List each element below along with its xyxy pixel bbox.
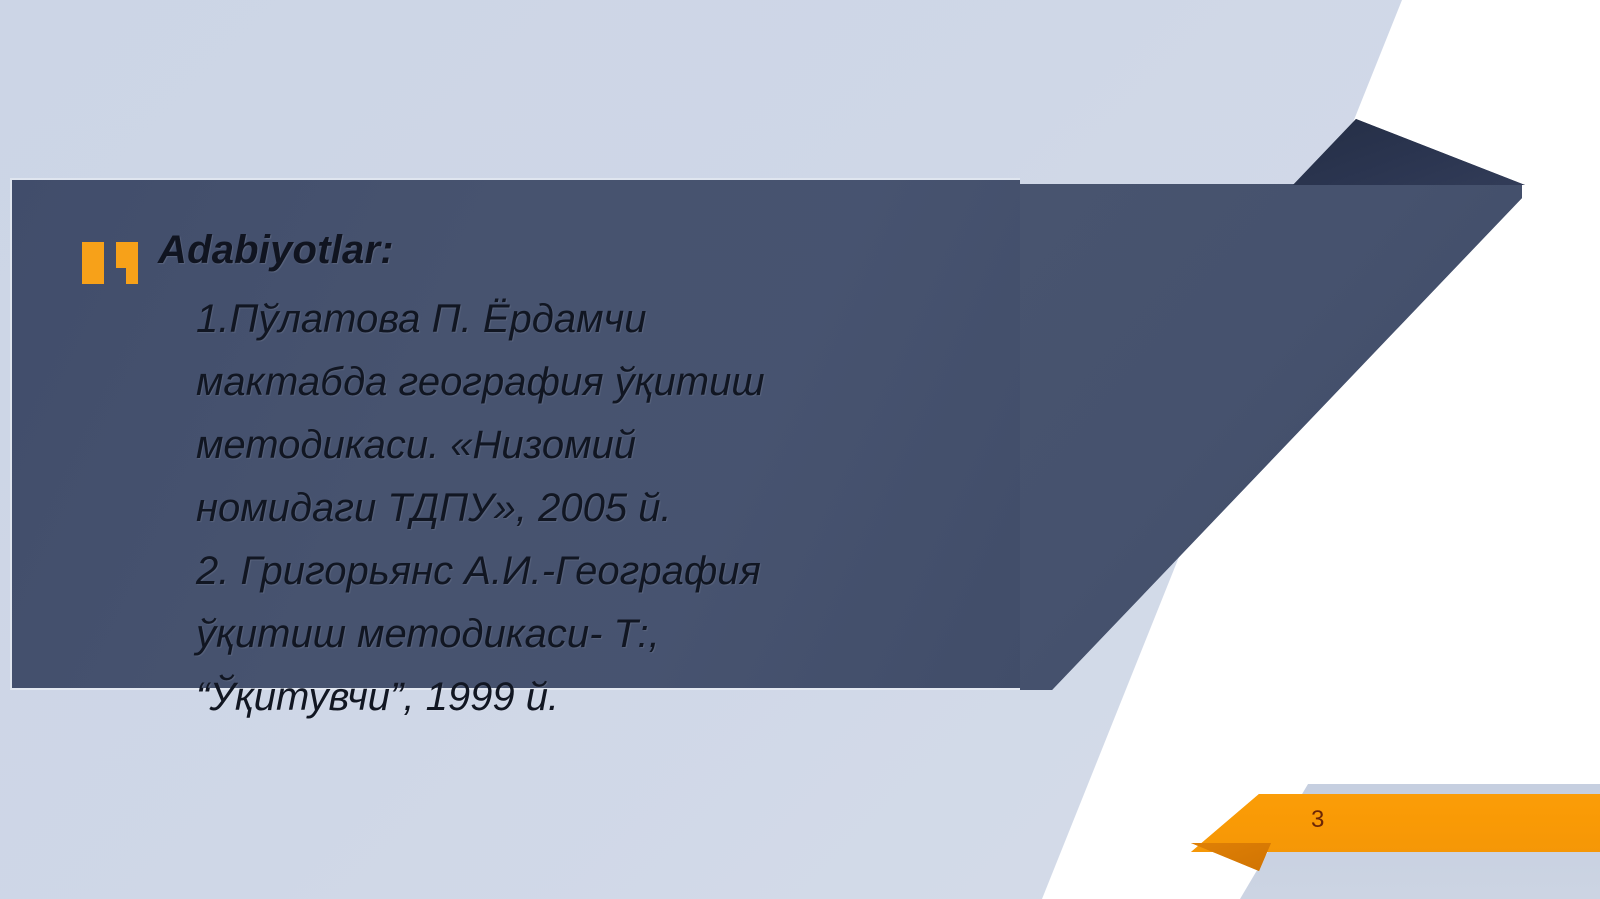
list-item: “Ўқитувчи”, 1999 й. — [196, 666, 1016, 729]
list-item: мактабда география ўқитиш — [196, 351, 1016, 414]
list-item: 1.Пўлатова П. Ёрдамчи — [196, 288, 1016, 351]
open-quote-icon — [78, 232, 144, 288]
list-item: номидаги ТДПУ», 2005 й. — [196, 477, 1016, 540]
reference-list: 1.Пўлатова П. Ёрдамчи мактабда география… — [196, 288, 1016, 729]
slide-canvas: Adabiyotlar: 1.Пўлатова П. Ёрдамчи макта… — [0, 0, 1600, 899]
list-item: ўқитиш методикаси- Т:, — [196, 603, 1016, 666]
page-number: 3 — [1311, 806, 1324, 834]
list-item: методикаси. «Низомий — [196, 414, 1016, 477]
list-item: 2. Григорьянс А.И.-География — [196, 540, 1016, 603]
page-title: Adabiyotlar: — [158, 228, 394, 273]
